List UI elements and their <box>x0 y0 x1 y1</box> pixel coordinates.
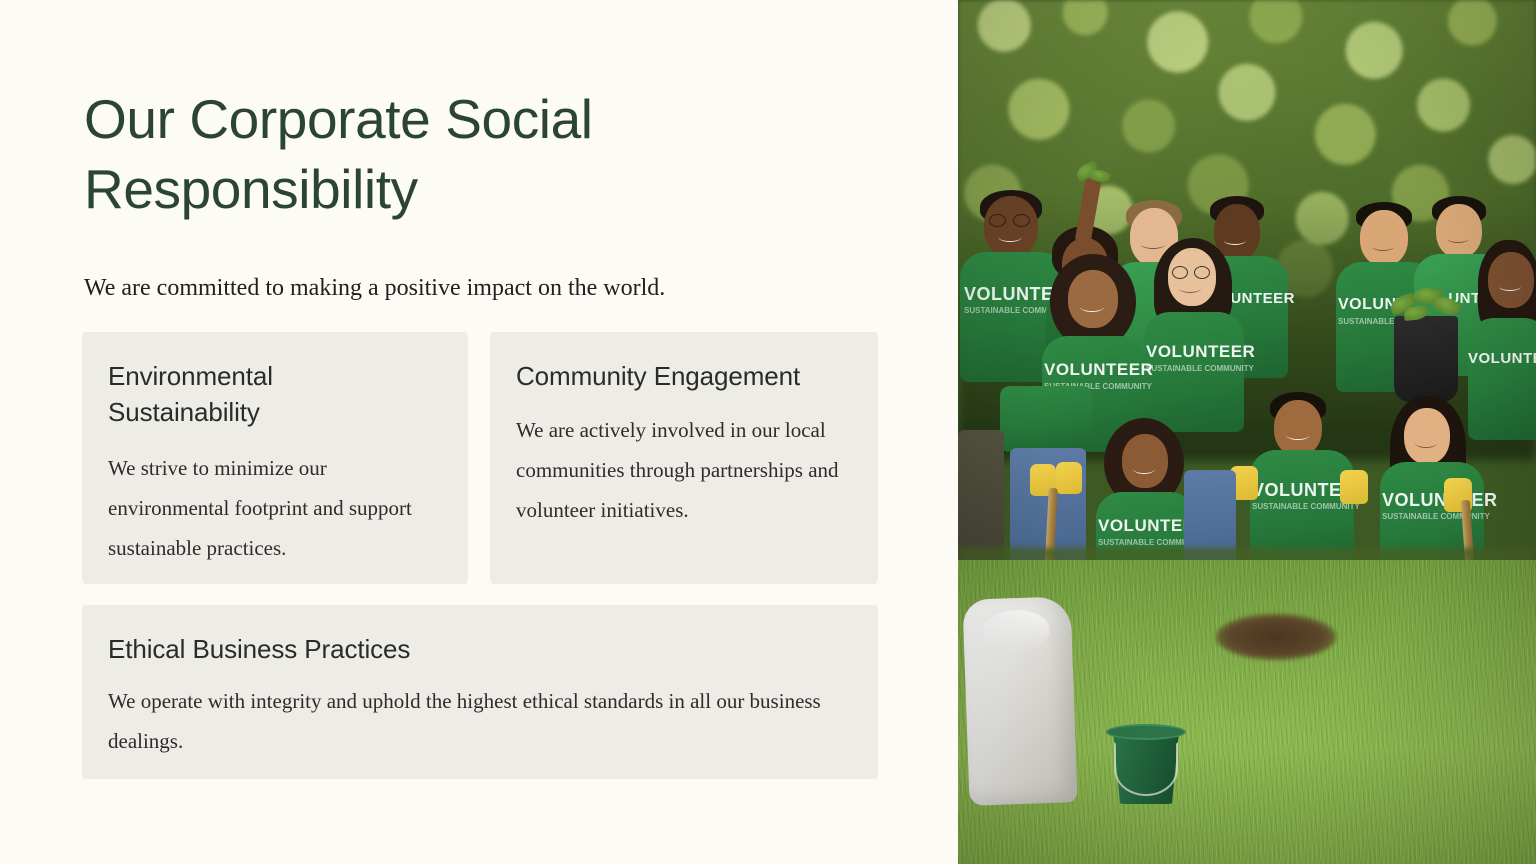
glasses-icon <box>1013 214 1030 227</box>
smile <box>998 232 1022 242</box>
volunteers-photo: VOLUNTEER SUSTAINABLE COMMUNITY <box>958 0 1536 864</box>
shirt-text: VOLUNTEER <box>1146 342 1242 362</box>
shirt-text: VOLUNTEER <box>1252 480 1352 501</box>
subtitle: We are committed to making a positive im… <box>84 272 884 304</box>
soil-patch <box>1216 614 1336 660</box>
glasses-icon <box>1194 266 1210 279</box>
volunteer-shirt <box>1000 386 1092 452</box>
glasses-icon <box>1172 266 1188 279</box>
card-ethical-business-practices[interactable]: Ethical Business Practices We operate wi… <box>82 605 878 779</box>
smile <box>1372 242 1394 251</box>
shirt-subtext: SUSTAINABLE COMMUNITY <box>1252 502 1352 511</box>
face <box>1360 210 1408 266</box>
bucket-rim <box>1106 724 1186 740</box>
face <box>1122 434 1168 488</box>
shirt-subtext: SUSTAINABLE COMMUNITY <box>1146 364 1242 373</box>
shirt-subtext: SUSTAINABLE COMMUNITY <box>1098 538 1194 547</box>
card-heading: Community Engagement <box>516 358 852 394</box>
smile <box>1286 430 1310 440</box>
smile <box>1499 282 1521 291</box>
card-body: We are actively involved in our local co… <box>516 410 852 530</box>
yellow-glove <box>1340 470 1368 504</box>
card-body: We operate with integrity and uphold the… <box>108 681 852 761</box>
yellow-glove <box>1056 462 1082 494</box>
potted-sapling-bag <box>1394 316 1458 402</box>
photo-stage: VOLUNTEER SUSTAINABLE COMMUNITY <box>958 0 1536 864</box>
glasses-icon <box>989 214 1006 227</box>
card-heading: Environmental Sustainability <box>108 358 442 430</box>
face <box>1404 408 1450 464</box>
face <box>1488 252 1534 308</box>
volunteer-shirt: VOLUNTEER SUSTAINABLE COMMUNITY <box>1144 312 1244 432</box>
smile <box>1447 234 1469 243</box>
slide: Our Corporate Social Responsibility We a… <box>0 0 1536 864</box>
face <box>1274 400 1322 456</box>
shirt-text: VOLUNTEER <box>1098 516 1194 536</box>
face <box>1436 204 1482 258</box>
smile <box>1179 284 1201 293</box>
shirt-text: VOLUNTEER <box>1468 350 1536 367</box>
smile <box>1141 240 1165 249</box>
face <box>984 196 1038 258</box>
smile <box>1133 464 1155 474</box>
smile <box>1080 302 1104 312</box>
volunteer-shirt: VOLUNTEER <box>1468 318 1536 440</box>
page-title: Our Corporate Social Responsibility <box>84 84 804 224</box>
card-body: We strive to minimize our environmental … <box>108 448 442 568</box>
card-environmental-sustainability[interactable]: Environmental Sustainability We strive t… <box>82 332 468 584</box>
card-heading: Ethical Business Practices <box>108 631 852 667</box>
smile <box>1415 438 1437 448</box>
smile <box>1224 236 1246 245</box>
white-refuse-bag <box>962 596 1077 806</box>
bucket-handle <box>1114 742 1178 796</box>
shirt-text: VOLUNTEER <box>1044 360 1144 380</box>
face <box>1068 270 1118 328</box>
content-pane: Our Corporate Social Responsibility We a… <box>0 0 958 864</box>
card-community-engagement[interactable]: Community Engagement We are actively inv… <box>490 332 878 584</box>
